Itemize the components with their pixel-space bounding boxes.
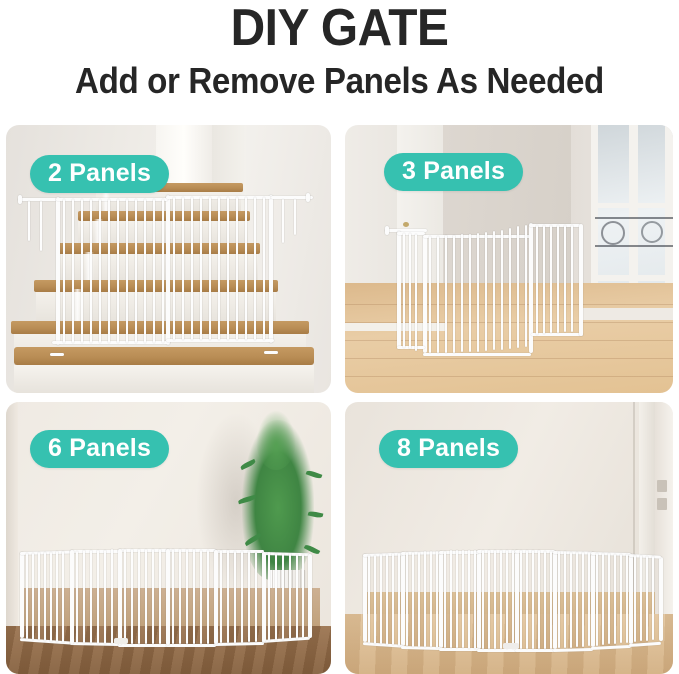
badge-eight-panels: 8 Panels xyxy=(379,430,518,468)
panel-grid: 2 Panels xyxy=(0,125,679,674)
panel-card-two-panels: 2 Panels xyxy=(6,125,331,393)
door-hinge-icon xyxy=(657,498,667,510)
door-hinge-icon xyxy=(657,480,667,492)
product-infographic: DIY GATE Add or Remove Panels As Needed xyxy=(0,0,679,674)
badge-six-panels: 6 Panels xyxy=(30,430,169,468)
badge-three-panels: 3 Panels xyxy=(384,153,523,191)
badge-two-panels: 2 Panels xyxy=(30,155,169,193)
page-title: DIY GATE xyxy=(27,2,652,54)
panel-card-six-panels: 6 Panels xyxy=(6,402,331,674)
panel-card-three-panels: 3 Panels xyxy=(345,125,673,393)
page-subtitle: Add or Remove Panels As Needed xyxy=(27,60,652,102)
panel-card-eight-panels: 8 Panels xyxy=(345,402,673,674)
header: DIY GATE Add or Remove Panels As Needed xyxy=(0,0,679,113)
